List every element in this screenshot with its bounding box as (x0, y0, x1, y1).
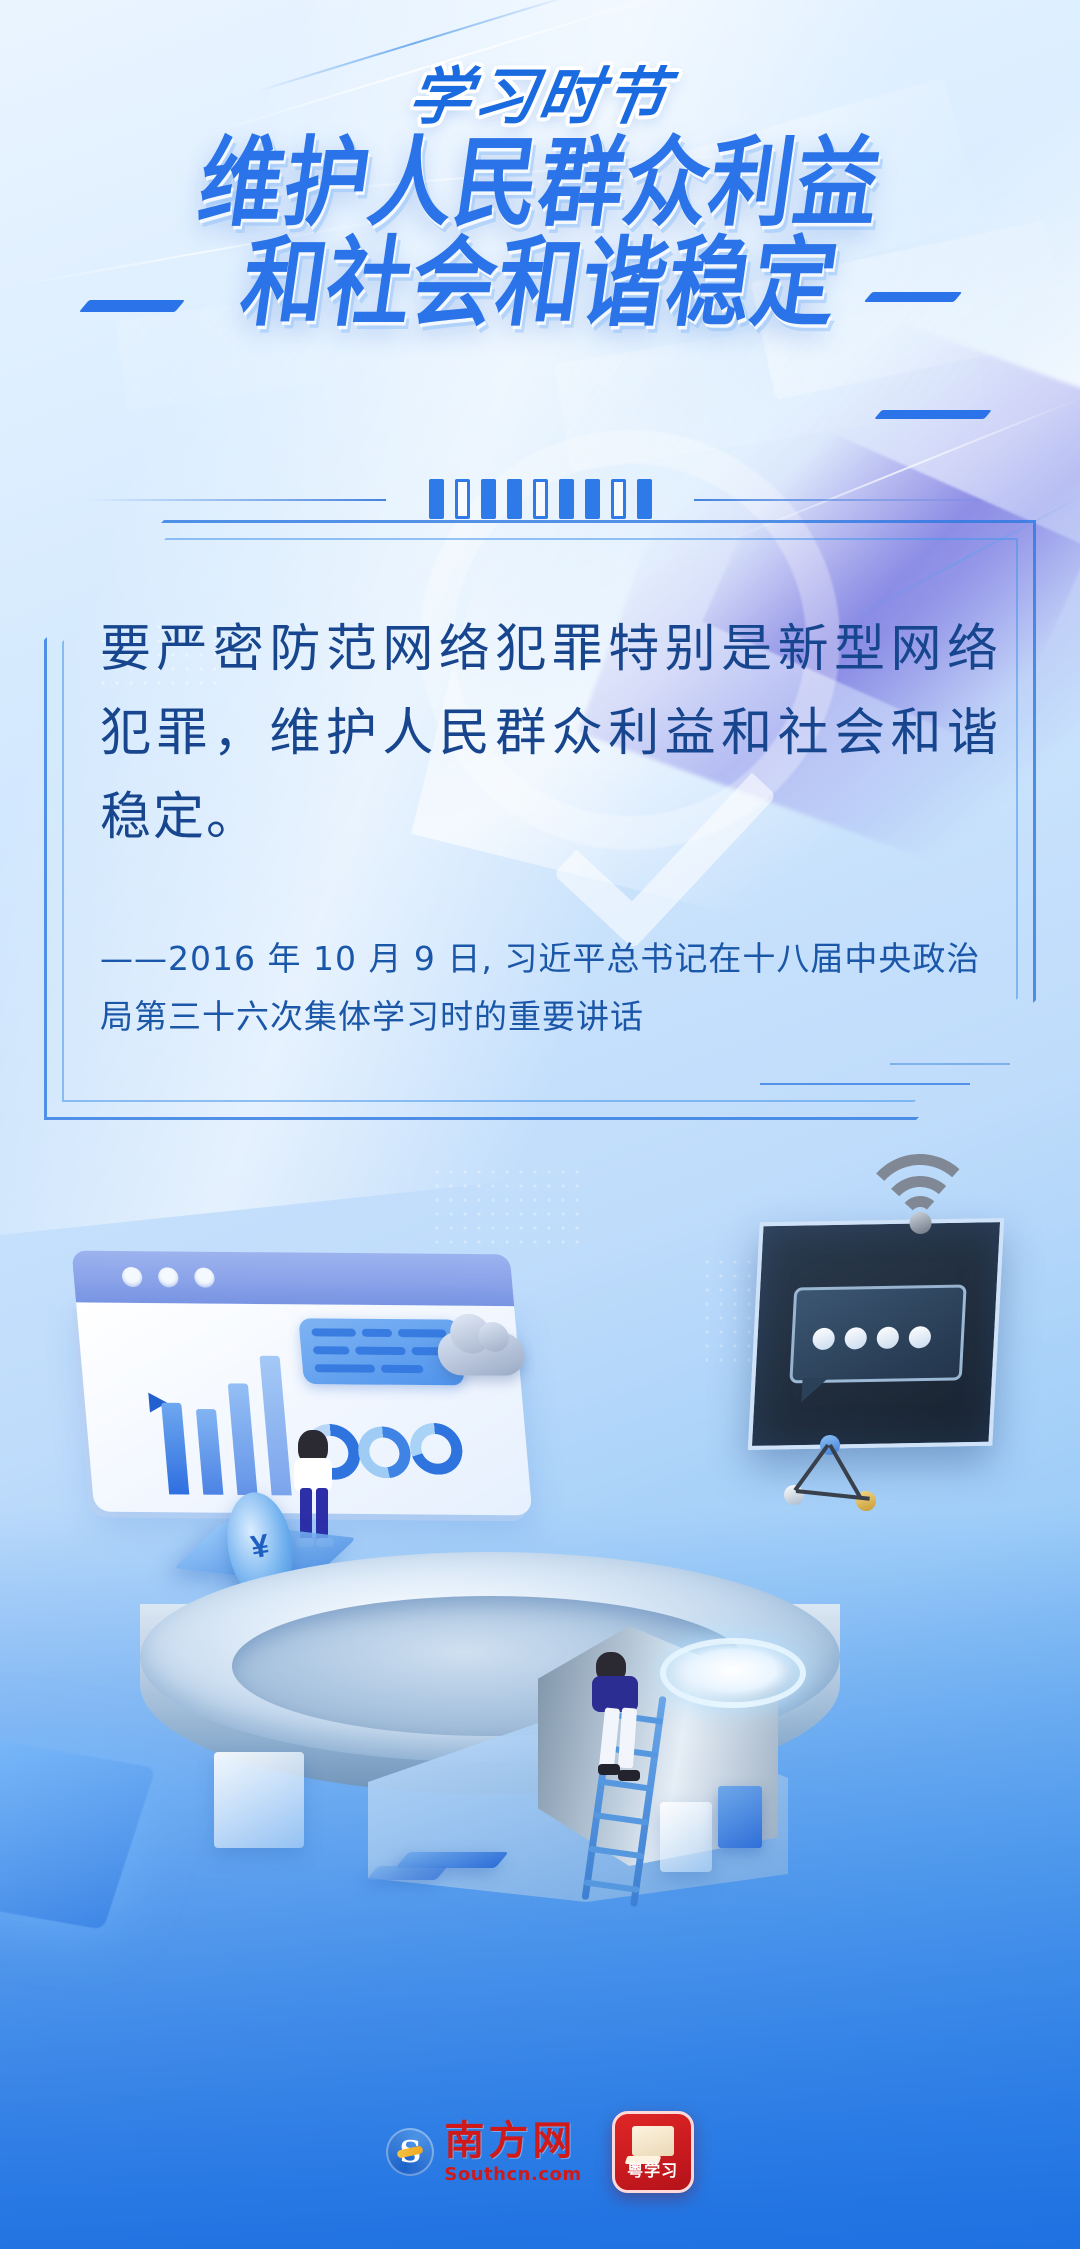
chart-bar (259, 1356, 291, 1496)
donut-chart (408, 1423, 465, 1475)
divider-tick (481, 479, 496, 519)
chat-dot (908, 1326, 931, 1348)
headline-accent-right-2 (874, 410, 992, 419)
person-torso (592, 1676, 638, 1712)
donut-chart (356, 1426, 413, 1478)
divider-tick (611, 479, 626, 519)
divider-tick (429, 479, 444, 519)
southcn-name-en: Southcn.com (444, 2166, 581, 2184)
yue-badge-label: 粤学习 (627, 2157, 678, 2181)
chart-bar (196, 1409, 224, 1495)
blue-block-prop (718, 1786, 762, 1848)
quote-text: 要严密防范网络犯罪特别是新型网络犯罪，维护人民群众利益和社会和谐稳定。 (100, 608, 1000, 860)
headline-line-1: 维护人民群众利益 (0, 133, 1080, 233)
person-leg (599, 1707, 620, 1768)
divider-tick (533, 479, 548, 519)
divider-tick (585, 479, 600, 519)
person-torso (294, 1458, 332, 1492)
person-shoe (598, 1764, 620, 1775)
southcn-wordmark: 南方网 Southcn.com (444, 2121, 581, 2184)
yue-study-badge[interactable]: 粤学习 (612, 2111, 694, 2193)
tick-divider (0, 476, 1080, 522)
browser-title-bar (72, 1251, 515, 1307)
illustration: ¥ (0, 1230, 1080, 2020)
cloud-icon (436, 1331, 526, 1376)
browser-dot-icon (157, 1267, 179, 1287)
divider-tick (507, 479, 522, 519)
text-line (362, 1329, 393, 1337)
headline-accent-left (79, 300, 185, 312)
text-line (355, 1347, 406, 1355)
headline-line-2: 和社会和谐稳定 (0, 233, 1080, 333)
ladder-rung (588, 1846, 644, 1860)
blue-bar-prop (366, 1866, 448, 1880)
southcn-logo[interactable]: 南方网 Southcn.com (386, 2121, 581, 2184)
quote-underline-secondary (890, 1063, 1010, 1065)
yue-badge-mark-icon (632, 2126, 674, 2156)
southcn-mark-icon (386, 2128, 434, 2176)
chat-dot (812, 1328, 835, 1350)
chart-bar (161, 1403, 189, 1495)
chat-dot (876, 1327, 899, 1349)
text-line (381, 1365, 424, 1373)
divider-tick (455, 479, 470, 519)
browser-dot-icon (194, 1268, 216, 1288)
person-on-ladder (592, 1652, 646, 1792)
divider-rule-left (86, 499, 386, 501)
text-line (314, 1364, 375, 1372)
southcn-name-cn: 南方网 (444, 2121, 576, 2161)
wheat-icon (397, 2145, 424, 2158)
tripod-node-cluster (784, 1435, 880, 1505)
person-shoe (618, 1770, 640, 1781)
footer-logos: 南方网 Southcn.com 粤学习 (0, 2107, 1080, 2197)
person-leg (618, 1708, 637, 1769)
tripod-leg (793, 1444, 829, 1492)
ladder-rung (593, 1812, 649, 1826)
poster-root: 学习时节 维护人民群众利益 和社会和谐稳定 要严密防范网络犯罪特别是新型网络犯罪… (0, 0, 1080, 2249)
quote-underline (760, 1083, 970, 1085)
tripod-leg (828, 1444, 861, 1498)
glass-cube-prop (214, 1752, 304, 1848)
chat-dot (844, 1327, 867, 1349)
chart-bar (228, 1383, 258, 1495)
headline-accent-right (864, 292, 962, 302)
text-line (311, 1328, 356, 1336)
text-line (313, 1346, 350, 1354)
divider-tick (637, 479, 652, 519)
divider-rule-right (694, 499, 994, 501)
text-line (398, 1329, 447, 1337)
divider-tick (559, 479, 574, 519)
wifi-icon (852, 1151, 986, 1238)
glass-box-prop (660, 1802, 712, 1872)
ladder-rung (583, 1879, 639, 1893)
chat-bubble-icon (789, 1285, 966, 1384)
stage-platform (140, 1552, 840, 1852)
brand-logo-text: 学习时节 (403, 46, 677, 136)
ring-light (660, 1638, 806, 1708)
brand-logo: 学习时节 (0, 46, 1080, 136)
browser-dot-icon (121, 1267, 143, 1287)
person-leg (316, 1488, 328, 1540)
quote-attribution: ——2016 年 10 月 9 日, 习近平总书记在十八届中央政治局第三十六次集… (100, 930, 1000, 1046)
